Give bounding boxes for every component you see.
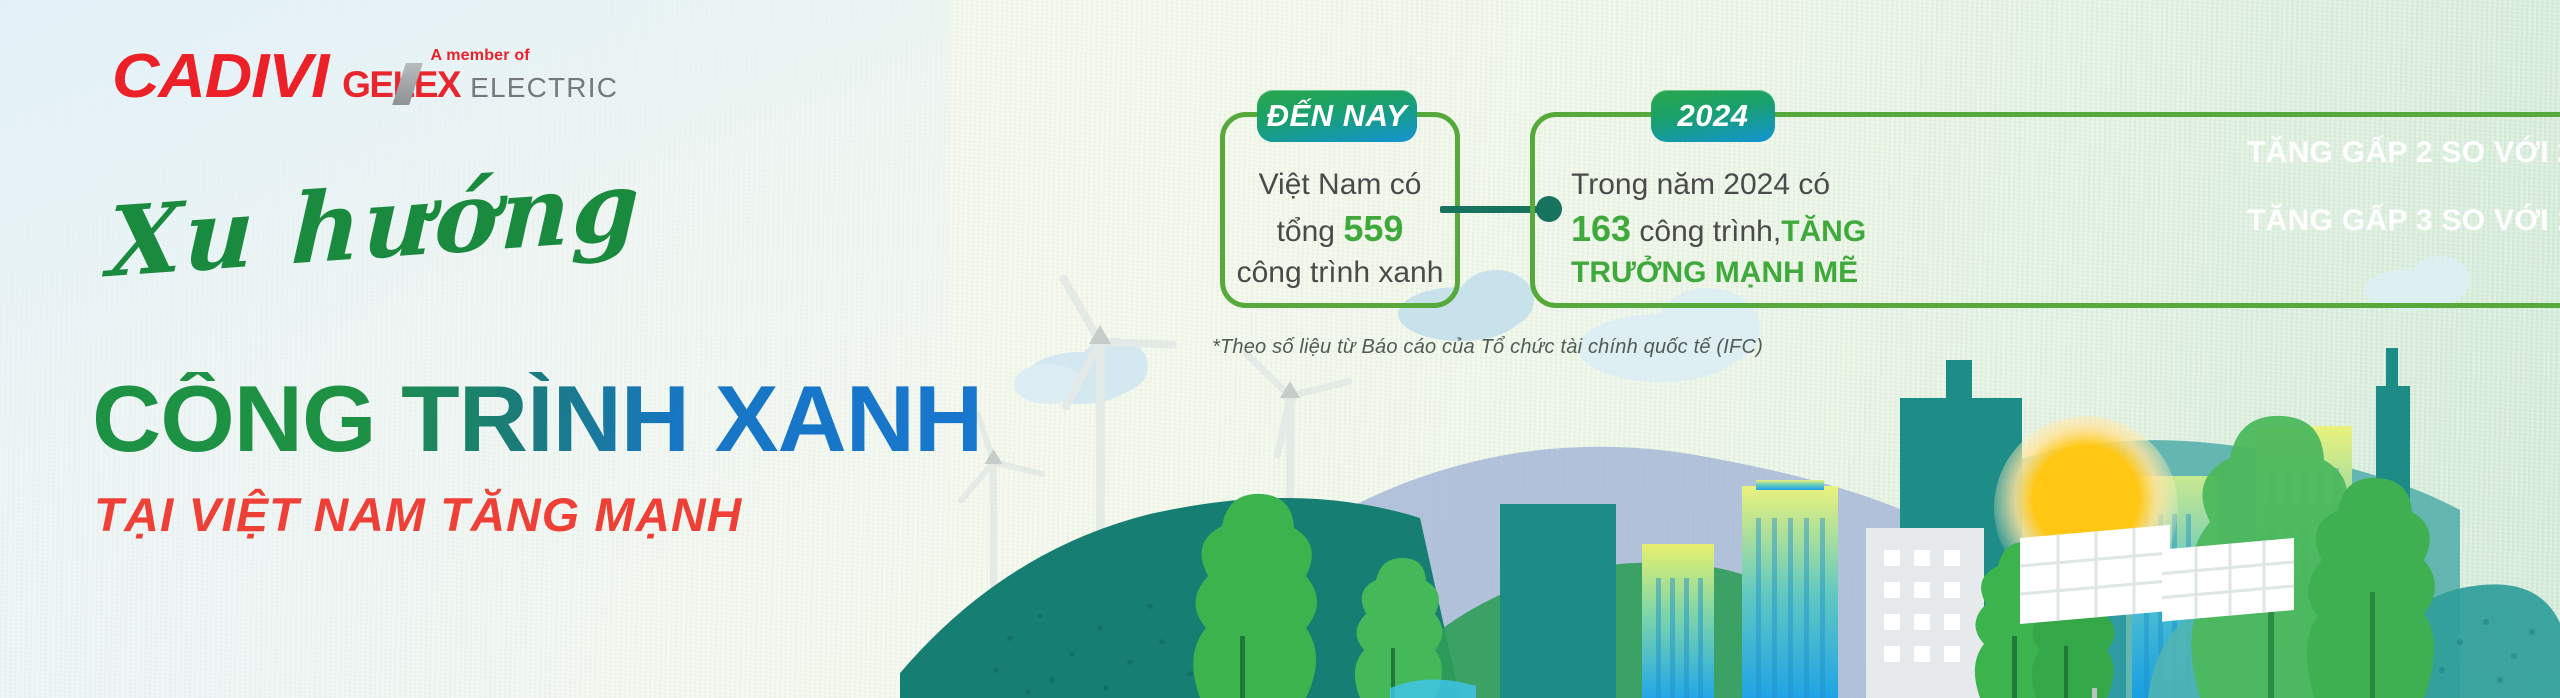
infographic: ĐẾN NAY Việt Nam có tổng 559 công trình …: [1200, 84, 2500, 334]
arrow-vs-2022-label: TĂNG GẤP 3 SO VỚI 2022: [2247, 204, 2560, 238]
banner-root: CADIVI A member of GELEX ELECTRIC Xu hướ…: [0, 0, 2560, 698]
arrow-vs-2022: TĂNG GẤP 3 SO VỚI 2022: [2225, 193, 2560, 248]
source-footnote: *Theo số liệu từ Báo cáo của Tổ chức tài…: [1212, 336, 1763, 359]
arrow-vs-2023-label: TĂNG GẤP 2 SO VỚI 2023: [2247, 136, 2560, 170]
brand-row: CADIVI A member of GELEX ELECTRIC: [112, 46, 618, 108]
stat-card-2024: 2024 Trong năm 2024 có 163 công trình,TĂ…: [1530, 112, 2560, 308]
badge-2024: 2024: [1651, 90, 1775, 142]
card1-line1: Việt Nam có: [1225, 165, 1455, 205]
card1-line2: tổng 559: [1225, 205, 1455, 253]
stat-card-to-date-body: Việt Nam có tổng 559 công trình xanh: [1225, 165, 1455, 293]
card2-growth-word: TĂNG: [1781, 215, 1866, 248]
card1-line3: công trình xanh: [1225, 253, 1455, 293]
card2-line2-mid: công trình,: [1639, 215, 1781, 248]
card2-count-value: 163: [1571, 208, 1631, 249]
headline-subtitle: TẠI VIỆT NAM TĂNG MẠNH: [94, 487, 742, 542]
member-of-label: A member of: [430, 47, 529, 65]
card1-total-value: 559: [1343, 208, 1403, 249]
gelex-electric-label: ELECTRIC: [470, 72, 618, 104]
arrow-vs-2023: TĂNG GẤP 2 SO VỚI 2023: [2225, 125, 2560, 180]
badge-to-date: ĐẾN NAY: [1257, 90, 1417, 142]
card1-line2-pre: tổng: [1277, 215, 1335, 248]
gelex-row: GELEX ELECTRIC: [342, 66, 618, 104]
page-title: CÔNG TRÌNH XANH: [92, 372, 982, 466]
stat-card-to-date: ĐẾN NAY Việt Nam có tổng 559 công trình …: [1220, 112, 1460, 308]
gelex-logo-block: A member of GELEX ELECTRIC: [342, 47, 618, 108]
comparison-arrows: TĂNG GẤP 2 SO VỚI 2023 TĂNG GẤP 3 SO VỚI…: [2225, 125, 2560, 261]
cadivi-logo: CADIVI: [112, 46, 328, 108]
gelex-mark: GELEX: [342, 66, 460, 103]
